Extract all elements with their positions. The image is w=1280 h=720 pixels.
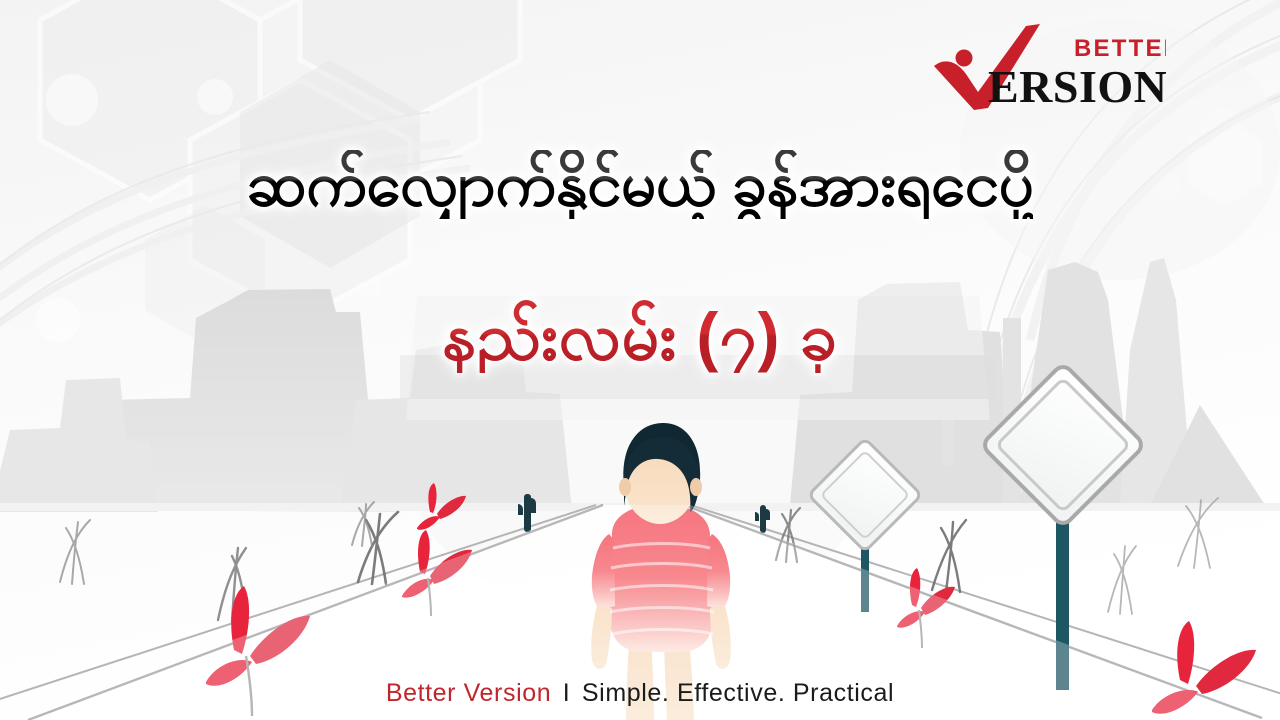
better-version-logo[interactable]: BETTER ERSION <box>926 22 1166 114</box>
tagline: Better Version I Simple. Effective. Prac… <box>0 679 1280 708</box>
slide-canvas: BETTER ERSION ဆက်လျှောက်နိုင်မယ့် ခွန်အာ… <box>0 0 1280 720</box>
title-block: ဆက်လျှောက်နိုင်မယ့် ခွန်အားရငေပို့ <box>0 150 1280 219</box>
page-title: ဆက်လျှောက်နိုင်မယ့် ခွန်အားရငေပို့ <box>247 150 1034 219</box>
page-subtitle: နည်းလမ်း (၇) ခု <box>442 300 838 373</box>
svg-text:ERSION: ERSION <box>988 61 1166 112</box>
tagline-brand: Better Version <box>386 679 551 707</box>
subtitle-block: နည်းလမ်း (၇) ခု <box>0 300 1280 373</box>
tagline-description: Simple. Effective. Practical <box>582 679 894 707</box>
svg-text:BETTER: BETTER <box>1074 35 1166 62</box>
tagline-separator: I <box>559 679 575 707</box>
